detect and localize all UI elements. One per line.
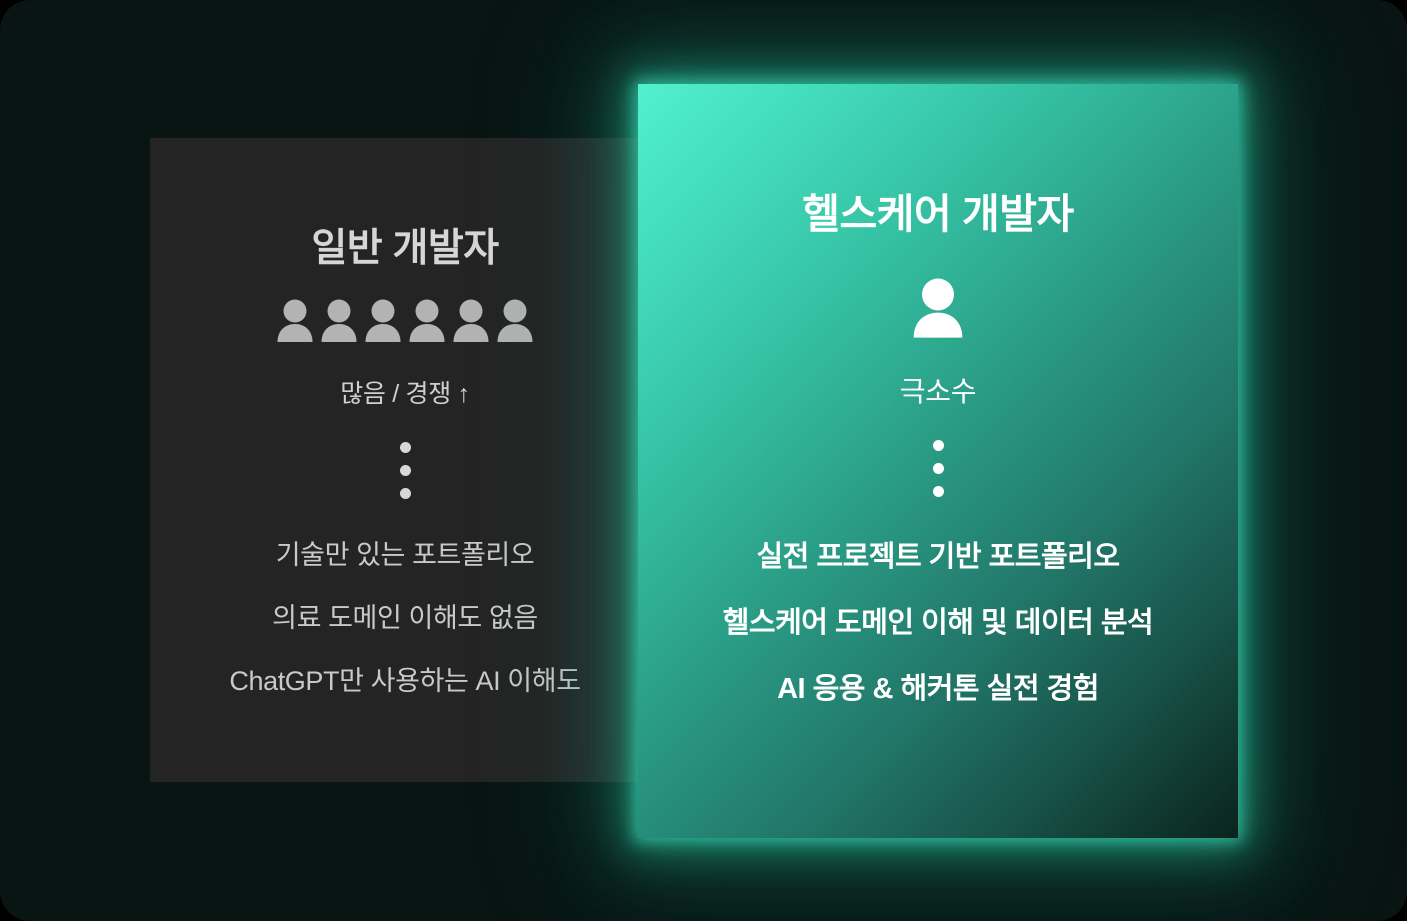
plain-card-title: 일반 개발자 xyxy=(311,228,498,271)
ellipsis-dot xyxy=(933,463,944,474)
ellipsis-dot xyxy=(400,465,411,476)
healthcare-card-title: 헬스케어 개발자 xyxy=(802,192,1073,237)
vertical-ellipsis-icon xyxy=(933,440,944,497)
plain-count-label: 많음 / 경쟁 ↑ xyxy=(340,374,470,410)
vertical-ellipsis-icon xyxy=(400,442,411,499)
plain-attribute-list: 기술만 있는 포트폴리오 의료 도메인 이해도 없음 ChatGPT만 사용하는… xyxy=(229,533,580,698)
comparison-slide: 일반 개발자 xyxy=(0,0,1407,921)
person-icon xyxy=(496,297,534,348)
person-icon xyxy=(408,297,446,348)
healthcare-attribute-list: 실전 프로젝트 기반 포트폴리오 헬스케어 도메인 이해 및 데이터 분석 AI… xyxy=(723,533,1154,707)
list-item: ChatGPT만 사용하는 AI 이해도 xyxy=(229,659,580,698)
plain-developer-card: 일반 개발자 xyxy=(150,138,638,782)
person-icon xyxy=(910,275,966,344)
person-icon xyxy=(320,297,358,348)
list-item: 기술만 있는 포트폴리오 xyxy=(276,533,535,572)
list-item: 헬스케어 도메인 이해 및 데이터 분석 xyxy=(723,599,1154,641)
ellipsis-dot xyxy=(933,440,944,451)
ellipsis-dot xyxy=(933,486,944,497)
person-icon xyxy=(452,297,490,348)
plain-person-icon-group xyxy=(276,297,534,348)
list-item: AI 응용 & 해커톤 실전 경험 xyxy=(777,665,1099,707)
healthcare-count-label: 극소수 xyxy=(900,370,976,410)
healthcare-developer-card: 헬스케어 개발자 극소수 실전 프로젝트 기반 포트폴리오 헬스케어 도메인 이… xyxy=(638,84,1238,838)
healthcare-person-icon-group xyxy=(910,275,966,344)
ellipsis-dot xyxy=(400,488,411,499)
person-icon xyxy=(364,297,402,348)
person-icon xyxy=(276,297,314,348)
list-item: 의료 도메인 이해도 없음 xyxy=(272,596,538,635)
plain-card-content: 일반 개발자 xyxy=(150,138,660,782)
list-item: 실전 프로젝트 기반 포트폴리오 xyxy=(756,533,1119,575)
ellipsis-dot xyxy=(400,442,411,453)
